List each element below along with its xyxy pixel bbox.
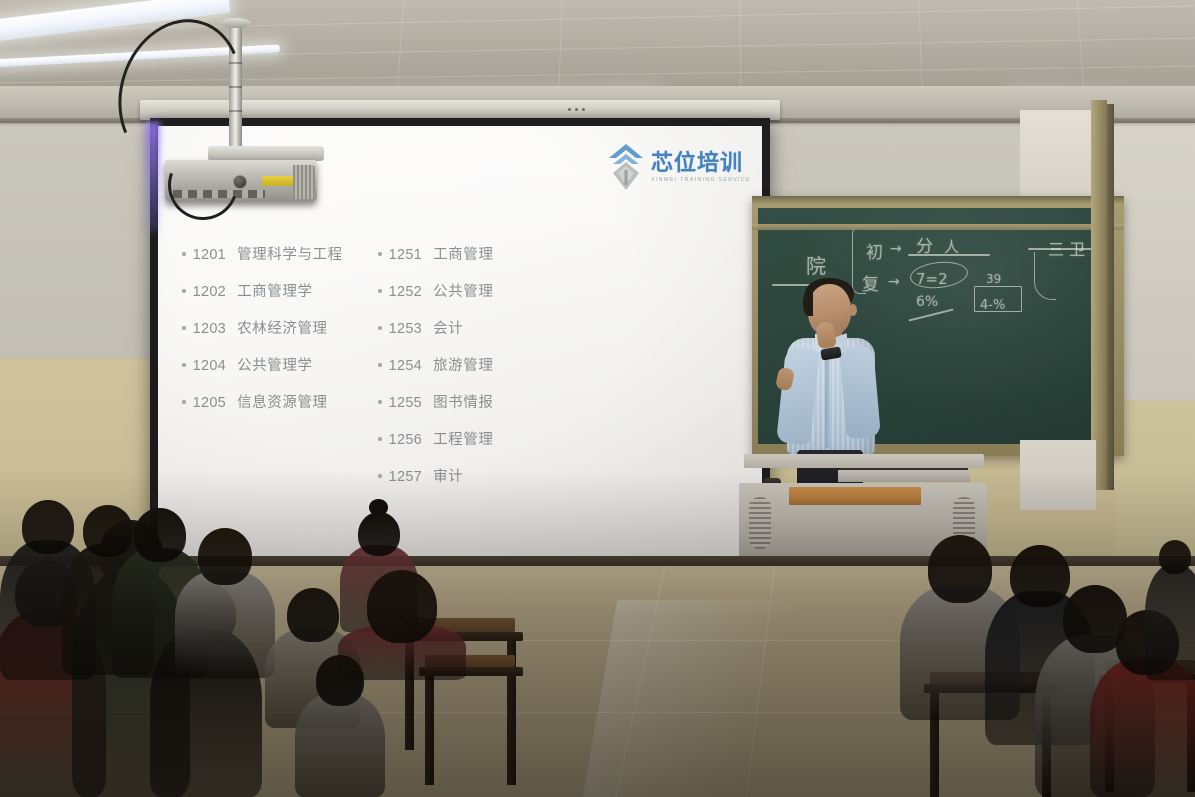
bullet-label: 会计 [433, 322, 463, 337]
floor-reflection [583, 600, 848, 797]
bullet-label: 工商管理学 [237, 285, 313, 300]
student-shoulders [1145, 565, 1195, 680]
bullet-label: 公共管理 [433, 285, 493, 300]
presenter-shirt-placket [825, 348, 829, 448]
bullet-dot-icon [182, 326, 186, 330]
screen-edge-glow [146, 122, 160, 232]
logo-name-cn: 芯位培训 [651, 152, 751, 174]
bullet-dot-icon [378, 437, 382, 441]
bullet-code: 1257 [389, 470, 422, 485]
presenter [775, 278, 885, 483]
blackboard-right-post-edge [1107, 104, 1114, 490]
chalk-circle [909, 259, 969, 291]
blackboard-chalk-rail [752, 224, 1124, 230]
student-white-tee-print [175, 528, 275, 678]
student-plastic-bag [295, 655, 385, 797]
slide-bullet-item: 1251工商管理 [378, 248, 608, 263]
student-head [1159, 540, 1191, 574]
chalk-box [974, 286, 1022, 312]
bullet-dot-icon [378, 400, 382, 404]
bullet-label: 旅游管理 [433, 359, 493, 374]
blackboard-top-shadow [752, 196, 1124, 204]
ceiling-grid-line [740, 0, 741, 92]
chalk-hook [1034, 252, 1056, 300]
projector-mount-cap [220, 18, 251, 28]
bench-leg [507, 675, 516, 785]
bullet-code: 1201 [193, 248, 226, 263]
bullet-dot-icon [378, 326, 382, 330]
bullet-code: 1204 [193, 359, 226, 374]
presenter-hair-side [803, 290, 813, 316]
bullet-dot-icon [182, 289, 186, 293]
slide-bullet-item: 1256工程管理 [378, 433, 608, 448]
bullet-dot-icon [182, 252, 186, 256]
bullet-label: 审计 [433, 470, 463, 485]
chalk-stroke [909, 308, 954, 321]
slide-bullet-item: 1254旅游管理 [378, 359, 608, 374]
slide-bullet-item: 1253会计 [378, 322, 608, 337]
slide-bullet-item: 1255图书情报 [378, 396, 608, 411]
housing-indicator-dots [568, 106, 598, 113]
bullet-code: 1256 [389, 433, 422, 448]
podium-speaker-left [749, 497, 771, 549]
podium-accent-panel [789, 487, 921, 505]
slide-column-left: 1201管理科学与工程1202工商管理学1203农林经济管理1204公共管理学1… [182, 248, 378, 485]
bullet-dot-icon [378, 289, 382, 293]
slide-bullet-item: 1204公共管理学 [182, 359, 378, 374]
slide-bullet-item: 1205信息资源管理 [182, 396, 378, 411]
bullet-dot-icon [378, 252, 382, 256]
student-far-right [1145, 540, 1195, 680]
bullet-label: 管理科学与工程 [237, 248, 343, 263]
podium-top-surface [744, 454, 984, 468]
chalk-note: → [888, 274, 900, 290]
slide-column-right: 1251工商管理1252公共管理1253会计1254旅游管理1255图书情报12… [378, 248, 608, 485]
slide-bullet-item: 1201管理科学与工程 [182, 248, 378, 263]
chalk-note: → [890, 241, 902, 257]
bullet-code: 1255 [389, 396, 422, 411]
chalk-underline [908, 254, 990, 256]
slide-bullet-columns: 1201管理科学与工程1202工商管理学1203农林经济管理1204公共管理学1… [182, 248, 742, 485]
bullet-code: 1253 [389, 322, 422, 337]
student-hair-bun [369, 499, 388, 516]
bullet-label: 公共管理学 [237, 359, 313, 374]
bullet-label: 工程管理 [433, 433, 493, 448]
bullet-dot-icon [182, 400, 186, 404]
slide-bullet-item: 1202工商管理学 [182, 285, 378, 300]
blackboard-lower-panel [1020, 440, 1096, 510]
chalk-note: 院 [806, 250, 826, 279]
logo-text: 芯位培训 XINWEI TRAINING SERVICE [651, 152, 751, 183]
bullet-code: 1203 [193, 322, 226, 337]
podium-monitor-base [838, 470, 970, 482]
bench-leg [425, 675, 434, 785]
bullet-label: 工商管理 [433, 248, 493, 263]
projector-vents [293, 165, 315, 199]
bullet-dot-icon [378, 363, 382, 367]
bullet-label: 图书情报 [433, 396, 493, 411]
chalk-note: 39 [986, 272, 1001, 286]
bullet-dot-icon [182, 363, 186, 367]
slide-bullet-item: 1257审计 [378, 470, 608, 485]
bullet-code: 1254 [389, 359, 422, 374]
student-shoulders [175, 570, 275, 678]
slide-logo: 芯位培训 XINWEI TRAINING SERVICE [606, 140, 736, 194]
bullet-label: 农林经济管理 [237, 322, 328, 337]
bullet-dot-icon [378, 474, 382, 478]
slide-bullet-item: 1252公共管理 [378, 285, 608, 300]
slide-bullet-item: 1203农林经济管理 [182, 322, 378, 337]
bullet-code: 1205 [193, 396, 226, 411]
student-head [198, 528, 252, 585]
classroom-scene: 芯位培训 XINWEI TRAINING SERVICE 1201管理科学与工程… [0, 0, 1195, 797]
blackboard-right-post [1091, 100, 1107, 490]
bullet-code: 1252 [389, 285, 422, 300]
blackboard-upper-panel [1020, 110, 1095, 210]
student-head [287, 588, 339, 642]
logo-name-en: XINWEI TRAINING SERVICE [651, 177, 751, 183]
presenter-ear [849, 304, 857, 316]
student-shoulders [295, 693, 385, 797]
student-head [367, 570, 436, 643]
logo-mark-icon [606, 142, 646, 192]
bullet-code: 1251 [389, 248, 422, 263]
student-head [928, 535, 993, 603]
chalk-note: 6% [916, 294, 938, 310]
student-head [358, 512, 400, 556]
student-head [316, 655, 365, 706]
chalk-note: 初 [866, 238, 883, 263]
bullet-label: 信息资源管理 [237, 396, 328, 411]
bullet-code: 1202 [193, 285, 226, 300]
